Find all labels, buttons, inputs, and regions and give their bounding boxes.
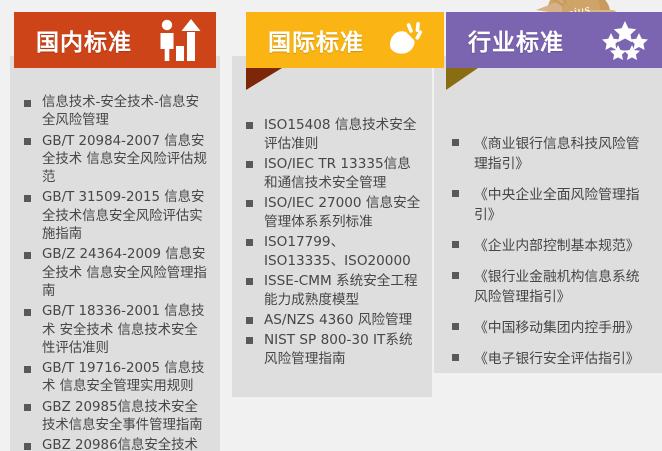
international-title: 国际标准 <box>268 23 364 57</box>
list-item-label: ISSE-CMM 系统安全工程能力成熟度模型 <box>264 273 418 308</box>
list-item[interactable]: ISSE-CMM 系统安全工程能力成熟度模型 <box>246 272 421 310</box>
bullet-icon <box>24 252 31 259</box>
list-item-label: AS/NZS 4360 风险管理 <box>264 312 412 328</box>
header-international-standards[interactable]: 国际标准 <box>246 12 444 68</box>
list-item[interactable]: ISO/IEC 27000 信息安全管理体系系列标准 <box>246 194 421 232</box>
list-item-label: NIST SP 800-30 IT系统风险管理指南 <box>264 332 413 367</box>
list-item[interactable]: 《中国移动集团内控手册》 <box>452 318 648 338</box>
list-item[interactable]: 《电子银行安全评估指引》 <box>452 349 648 369</box>
bullet-icon <box>24 443 31 450</box>
list-item[interactable]: 信息技术-安全技术-信息安全风险管理 <box>24 94 207 131</box>
bullet-icon <box>452 323 459 330</box>
list-item[interactable]: AS/NZS 4360 风险管理 <box>246 311 421 330</box>
list-item-label: ISO/IEC 27000 信息安全管理体系系列标准 <box>264 195 420 230</box>
bullet-icon <box>246 161 253 168</box>
list-item-label: GBZ 20986信息安全技术信息安全事件分类分级指南 <box>42 438 203 451</box>
list-item-label: ISO15408 信息技术安全评估准则 <box>264 117 416 152</box>
bullet-icon <box>246 278 253 285</box>
bullet-icon <box>246 239 253 246</box>
list-item[interactable]: GB/Z 24364-2009 信息安全技术 信息安全风险管理指南 <box>24 246 207 301</box>
list-item[interactable]: ISO15408 信息技术安全评估准则 <box>246 116 421 154</box>
header-industry-standards[interactable]: 行业标准 <box>446 12 662 68</box>
bullet-icon <box>452 139 459 146</box>
list-item-label: GB/Z 24364-2009 信息安全技术 信息安全风险管理指南 <box>42 247 207 299</box>
domestic-title: 国内标准 <box>36 23 132 57</box>
list-item-label: 《商业银行信息科技风险管理指引》 <box>474 136 640 172</box>
list-item-label: ISO17799、ISO13335、ISO20000 <box>264 234 411 269</box>
list-item-label: GB/T 31509-2015 信息安全技术信息安全风险评估实施指南 <box>42 190 204 242</box>
list-item[interactable]: ISO17799、ISO13335、ISO20000 <box>246 233 421 271</box>
list-item[interactable]: GB/T 20984-2007 信息安全技术 信息安全风险评估规范 <box>24 133 207 188</box>
list-item-label: 《银行业金融机构信息系统风险管理指引》 <box>474 269 640 305</box>
list-item[interactable]: GBZ 20986信息安全技术信息安全事件分类分级指南 <box>24 437 207 451</box>
header-domestic-standards[interactable]: 国内标准 <box>14 12 216 68</box>
list-item-label: GB/T 19716-2005 信息技术 信息安全管理实用规则 <box>42 361 204 394</box>
list-item[interactable]: GB/T 31509-2015 信息安全技术信息安全风险评估实施指南 <box>24 189 207 244</box>
five-stars-icon <box>602 18 648 62</box>
list-item-label: 信息技术-安全技术-信息安全风险管理 <box>42 95 199 128</box>
list-item-label: 《企业内部控制基本规范》 <box>474 238 640 254</box>
list-item-label: 《中央企业全面风险管理指引》 <box>474 187 640 223</box>
list-item-label: 《电子银行安全评估指引》 <box>474 351 640 367</box>
header-fold-shadow-industry <box>446 68 478 90</box>
bullet-icon <box>24 195 31 202</box>
bullet-icon <box>24 309 31 316</box>
person-growth-arrow-icon <box>156 18 202 62</box>
list-item[interactable]: NIST SP 800-30 IT系统风险管理指南 <box>246 331 421 369</box>
bullet-icon <box>452 241 459 248</box>
list-item[interactable]: GB/T 18336-2001 信息技术 安全技术 信息技术安全性评估准则 <box>24 303 207 358</box>
list-item-label: GB/T 20984-2007 信息安全技术 信息安全风险评估规范 <box>42 134 207 186</box>
list-item-label: GB/T 18336-2001 信息技术 安全技术 信息技术安全性评估准则 <box>42 304 204 356</box>
list-item-label: GBZ 20985信息技术安全技术信息安全事件管理指南 <box>42 400 203 433</box>
list-item-label: 《中国移动集团内控手册》 <box>474 320 640 336</box>
bullet-icon <box>24 138 31 145</box>
list-item[interactable]: ISO/IEC TR 13335信息和通信技术安全管理 <box>246 155 421 193</box>
list-item[interactable]: 《企业内部控制基本规范》 <box>452 236 648 256</box>
industry-title: 行业标准 <box>468 23 564 57</box>
bullet-icon <box>24 100 31 107</box>
bullet-icon <box>246 122 253 129</box>
bullet-icon <box>246 200 253 207</box>
bullet-icon <box>24 404 31 411</box>
slide-canvas: nius 国内标准 信息技术-安全技术-信息安全风险管理 GB/T 20984-… <box>0 0 662 451</box>
list-item[interactable]: GB/T 19716-2005 信息技术 信息安全管理实用规则 <box>24 360 207 397</box>
header-fold-shadow-international <box>246 68 282 90</box>
international-standards-list: ISO15408 信息技术安全评估准则 ISO/IEC TR 13335信息和通… <box>246 116 421 370</box>
bullet-icon <box>452 272 459 279</box>
click-hand-idea-icon <box>384 18 430 62</box>
bullet-icon <box>246 337 253 344</box>
domestic-standards-list: 信息技术-安全技术-信息安全风险管理 GB/T 20984-2007 信息安全技… <box>24 94 207 451</box>
list-item[interactable]: GBZ 20985信息技术安全技术信息安全事件管理指南 <box>24 399 207 436</box>
bullet-icon <box>24 366 31 373</box>
bullet-icon <box>452 354 459 361</box>
industry-standards-list: 《商业银行信息科技风险管理指引》 《中央企业全面风险管理指引》 《企业内部控制基… <box>452 134 648 380</box>
list-item-label: ISO/IEC TR 13335信息和通信技术安全管理 <box>264 156 411 191</box>
bullet-icon <box>246 317 253 324</box>
list-item[interactable]: 《银行业金融机构信息系统风险管理指引》 <box>452 267 648 307</box>
bullet-icon <box>452 190 459 197</box>
list-item[interactable]: 《商业银行信息科技风险管理指引》 <box>452 134 648 174</box>
list-item[interactable]: 《中央企业全面风险管理指引》 <box>452 185 648 225</box>
